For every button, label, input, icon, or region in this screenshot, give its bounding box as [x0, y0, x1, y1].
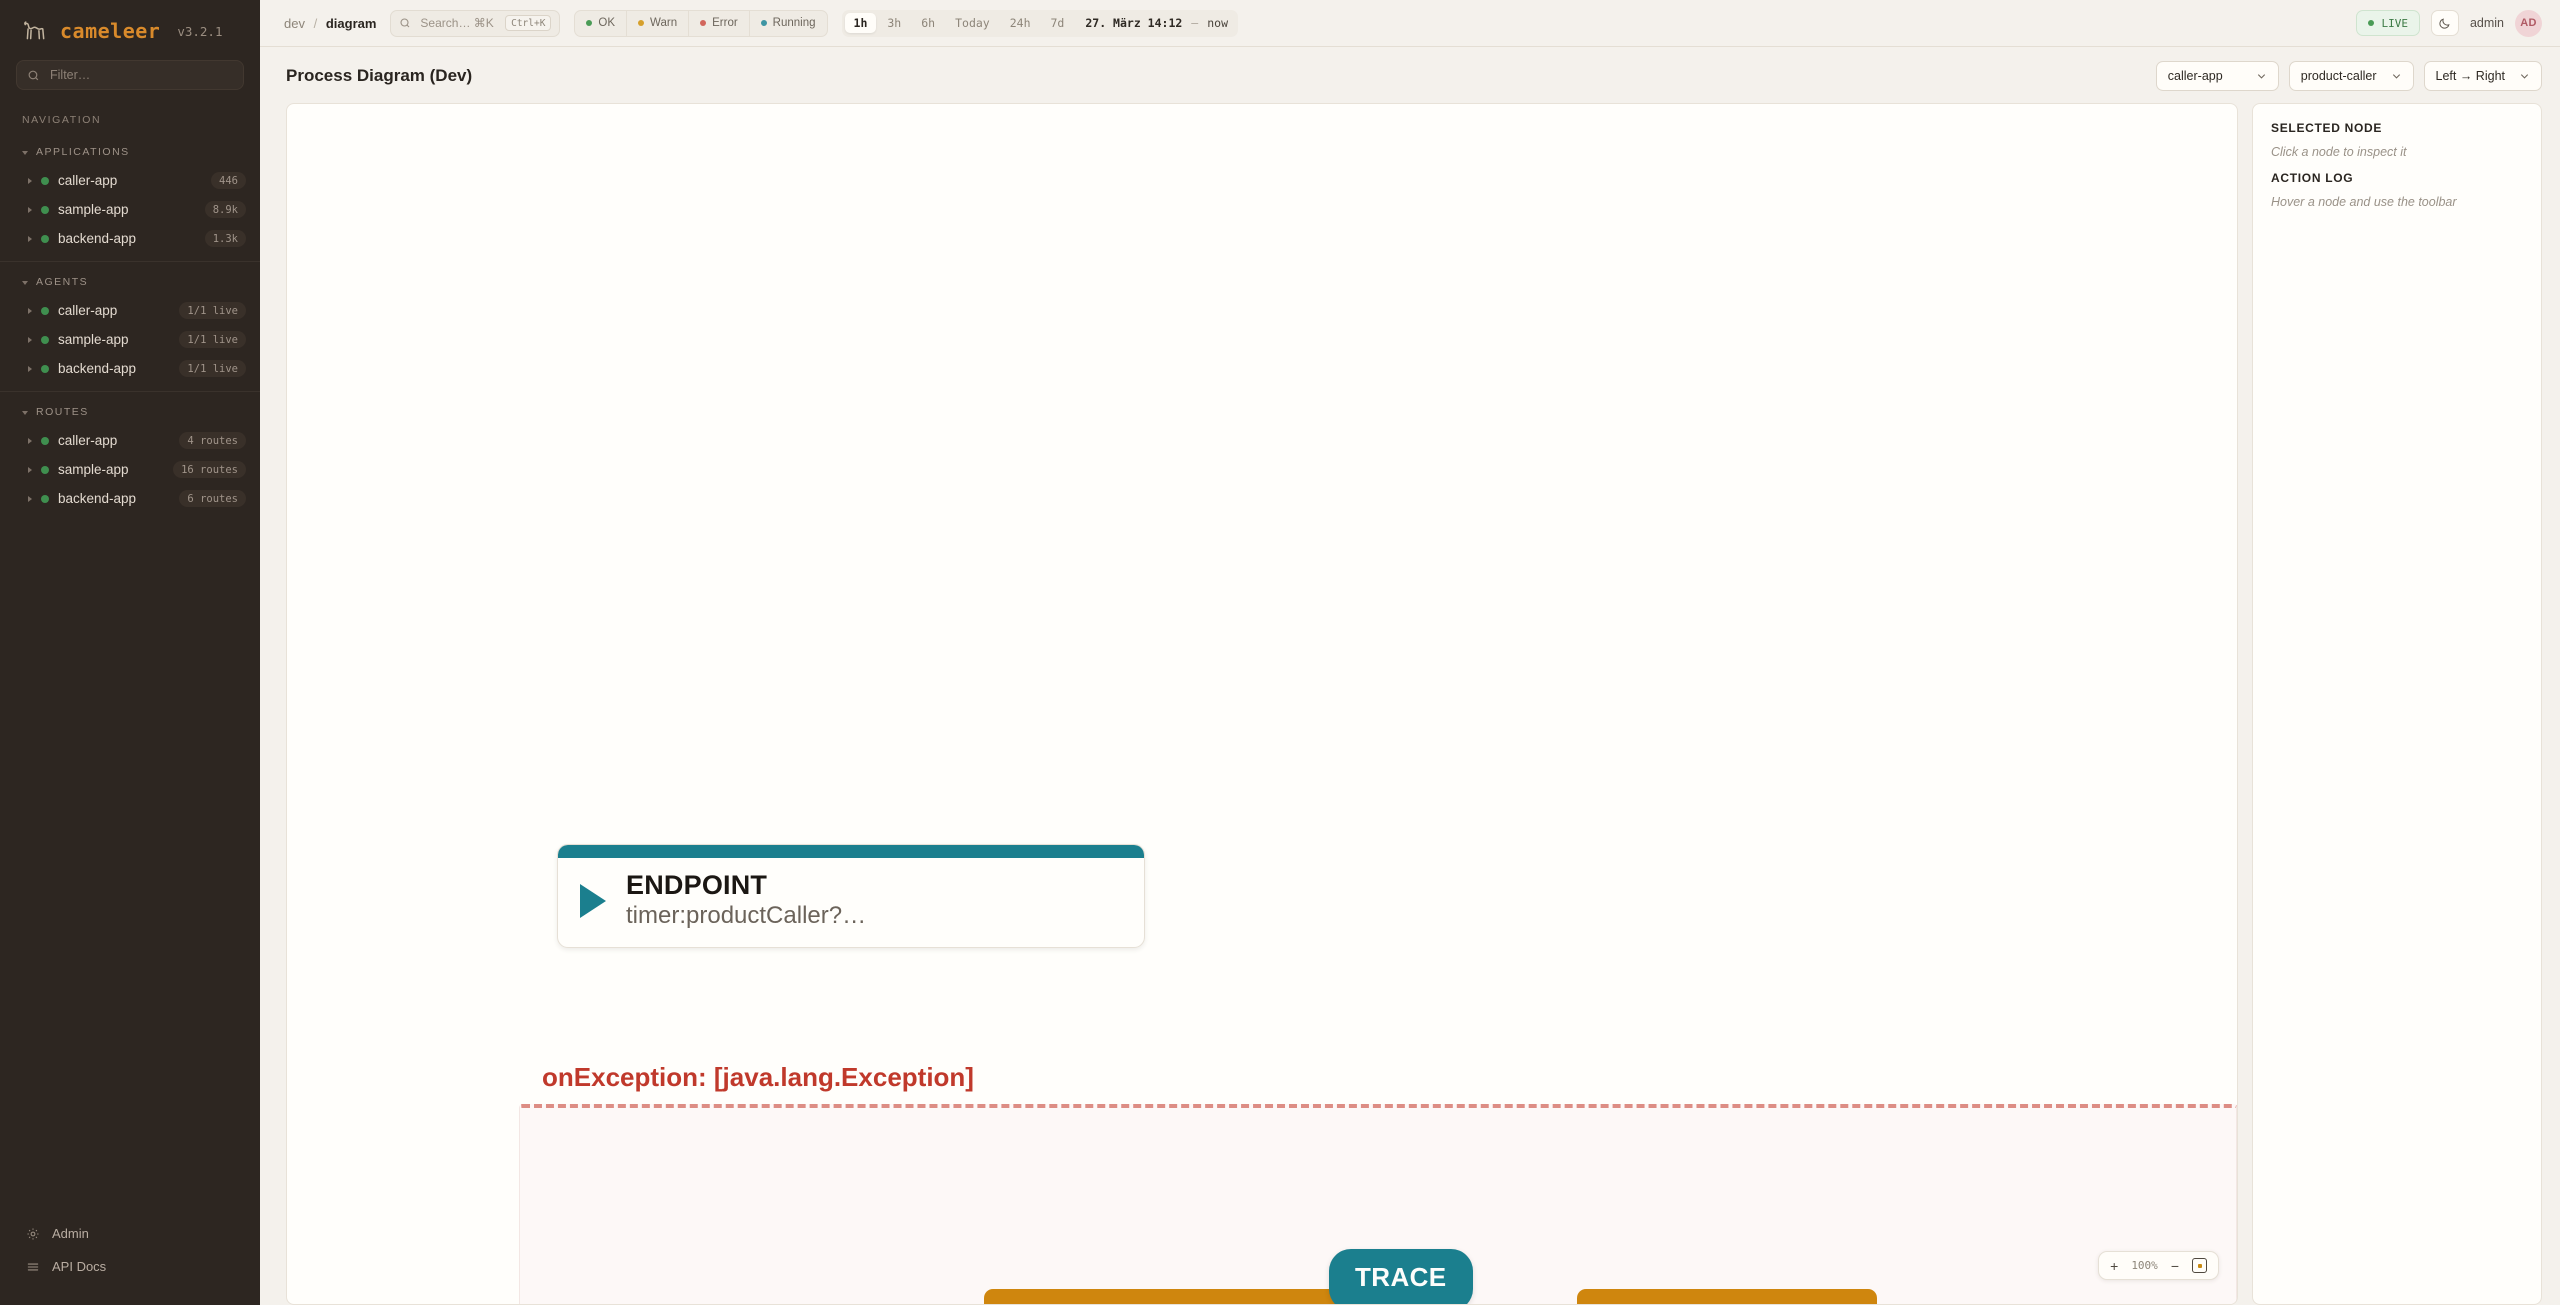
status-dot-error: [700, 20, 706, 26]
search-placeholder: Search… ⌘K: [420, 16, 496, 30]
navigation-label: NAVIGATION: [0, 104, 260, 132]
item-badge: 1/1 live: [179, 302, 246, 319]
section-title: APPLICATIONS: [36, 146, 130, 158]
inspector-panel: SELECTED NODE Click a node to inspect it…: [2252, 103, 2542, 1305]
zoom-level: 100%: [2131, 1259, 2158, 1272]
range-3h[interactable]: 3h: [878, 13, 910, 33]
sidebar-item-applications-sample-app[interactable]: sample-app 8.9k: [0, 195, 260, 224]
chevron-down-icon: [22, 151, 28, 155]
select-route[interactable]: product-caller: [2289, 61, 2414, 91]
item-badge: 16 routes: [173, 461, 246, 478]
breadcrumb-current: diagram: [326, 16, 377, 31]
chevron-right-icon: [28, 496, 32, 502]
diagram-node-bar-left[interactable]: [984, 1289, 1384, 1305]
item-badge: 4 routes: [179, 432, 246, 449]
chevron-down-icon: [2519, 71, 2530, 82]
diagram-node-endpoint[interactable]: ENDPOINT timer:productCaller?…: [557, 844, 1145, 948]
chevron-right-icon: [28, 178, 32, 184]
chevron-right-icon: [28, 438, 32, 444]
range-to: now: [1207, 16, 1228, 30]
sidebar-item-applications-caller-app[interactable]: caller-app 446: [0, 166, 260, 195]
status-filter-label: Error: [712, 17, 738, 29]
search-icon: [399, 17, 411, 29]
section-header-agents[interactable]: AGENTS: [0, 262, 260, 296]
item-badge: 1.3k: [205, 230, 246, 247]
sidebar-footer: Admin API Docs: [0, 1217, 260, 1305]
sidebar-item-agents-backend-app[interactable]: backend-app 1/1 live: [0, 354, 260, 383]
section-title: ROUTES: [36, 406, 89, 418]
trace-badge[interactable]: TRACE: [1329, 1249, 1473, 1305]
range-dash: —: [1191, 16, 1198, 30]
range-1h[interactable]: 1h: [845, 13, 877, 33]
item-label: caller-app: [58, 433, 117, 448]
chevron-down-icon: [22, 411, 28, 415]
status-dot-ok: [586, 20, 592, 26]
status-dot: [41, 307, 49, 315]
item-badge: 1/1 live: [179, 331, 246, 348]
select-value: Left → Right: [2436, 69, 2505, 83]
time-range-selector: 1h 3h 6h Today 24h 7d 27. März 14:12 — n…: [842, 10, 1239, 37]
status-filter-label: Running: [773, 17, 816, 29]
sidebar-item-agents-caller-app[interactable]: caller-app 1/1 live: [0, 296, 260, 325]
sidebar-section-agents: AGENTS caller-app 1/1 live sample-app 1/…: [0, 261, 260, 391]
chevron-right-icon: [28, 337, 32, 343]
global-search[interactable]: Search… ⌘K Ctrl+K: [390, 10, 560, 37]
brand[interactable]: cameleer v3.2.1: [0, 0, 260, 54]
status-filter-error[interactable]: Error: [688, 11, 749, 36]
item-label: sample-app: [58, 332, 129, 347]
status-dot-running: [761, 20, 767, 26]
camel-icon: [22, 18, 48, 44]
status-dot: [41, 336, 49, 344]
exception-label: onException: [java.lang.Exception]: [542, 1062, 974, 1093]
action-log-hint: Hover a node and use the toolbar: [2271, 195, 2523, 209]
status-filter-label: Warn: [650, 17, 677, 29]
zoom-out-button[interactable]: −: [2171, 1259, 2179, 1273]
range-6h[interactable]: 6h: [912, 13, 944, 33]
sidebar-filter: [0, 54, 260, 104]
sidebar-item-applications-backend-app[interactable]: backend-app 1.3k: [0, 224, 260, 253]
filter-input[interactable]: [50, 68, 233, 82]
node-body: ENDPOINT timer:productCaller?…: [558, 858, 1144, 947]
select-value: caller-app: [2168, 69, 2242, 83]
sidebar-section-routes: ROUTES caller-app 4 routes sample-app 16…: [0, 391, 260, 521]
chevron-right-icon: [28, 366, 32, 372]
range-today[interactable]: Today: [946, 13, 999, 33]
diagram-canvas[interactable]: ENDPOINT timer:productCaller?… onExcepti…: [286, 103, 2238, 1305]
zoom-in-button[interactable]: +: [2110, 1259, 2118, 1273]
sidebar: cameleer v3.2.1 NAVIGATION APPLICATIONS …: [0, 0, 260, 1305]
status-dot-warn: [638, 20, 644, 26]
status-filter-label: OK: [598, 17, 615, 29]
search-icon: [27, 69, 40, 82]
live-dot: [2368, 20, 2374, 26]
chevron-right-icon: [28, 467, 32, 473]
section-header-routes[interactable]: ROUTES: [0, 392, 260, 426]
live-label: LIVE: [2381, 17, 2408, 30]
section-header-applications[interactable]: APPLICATIONS: [0, 132, 260, 166]
chevron-right-icon: [28, 308, 32, 314]
page-title: Process Diagram (Dev): [286, 66, 472, 86]
chevron-down-icon: [2256, 71, 2267, 82]
filter-box[interactable]: [16, 60, 244, 90]
diagram-node-bar-right[interactable]: [1577, 1289, 1877, 1305]
item-badge: 1/1 live: [179, 360, 246, 377]
main-area: dev / diagram Search… ⌘K Ctrl+K OK Warn: [260, 0, 2560, 1305]
item-badge: 8.9k: [205, 201, 246, 218]
diagram-selectors: caller-app product-caller Left → Right: [2156, 61, 2542, 91]
zoom-controls: + 100% −: [2098, 1251, 2219, 1280]
status-dot: [41, 466, 49, 474]
live-status-badge[interactable]: LIVE: [2356, 10, 2420, 36]
status-dot: [41, 365, 49, 373]
status-dot: [41, 177, 49, 185]
status-dot: [41, 235, 49, 243]
fit-to-screen-icon[interactable]: [2192, 1258, 2207, 1273]
play-icon: [580, 884, 606, 918]
list-icon: [26, 1260, 40, 1274]
item-badge: 446: [211, 172, 246, 189]
status-filter-warn[interactable]: Warn: [626, 11, 688, 36]
select-application[interactable]: caller-app: [2156, 61, 2279, 91]
sidebar-item-agents-sample-app[interactable]: sample-app 1/1 live: [0, 325, 260, 354]
sidebar-section-applications: APPLICATIONS caller-app 446 sample-app 8…: [0, 132, 260, 261]
selected-node-heading: SELECTED NODE: [2271, 121, 2523, 135]
moon-icon: [2438, 17, 2451, 30]
user-name: admin: [2470, 16, 2504, 30]
gear-icon: [26, 1227, 40, 1241]
brand-version: v3.2.1: [177, 24, 222, 39]
theme-toggle-button[interactable]: [2431, 10, 2459, 36]
section-title: AGENTS: [36, 276, 88, 288]
node-title: ENDPOINT: [626, 870, 866, 900]
breadcrumb: dev / diagram: [284, 16, 376, 31]
item-label: sample-app: [58, 462, 129, 477]
select-direction[interactable]: Left → Right: [2424, 61, 2542, 91]
status-filter-ok[interactable]: OK: [575, 11, 626, 36]
sidebar-item-admin[interactable]: Admin: [0, 1217, 260, 1250]
select-value: product-caller: [2301, 69, 2377, 83]
avatar[interactable]: AD: [2515, 10, 2542, 37]
node-accent-bar: [558, 845, 1144, 858]
range-24h[interactable]: 24h: [1001, 13, 1040, 33]
range-7d[interactable]: 7d: [1042, 13, 1074, 33]
item-label: backend-app: [58, 231, 136, 246]
status-dot: [41, 437, 49, 445]
breadcrumb-separator: /: [314, 16, 318, 31]
item-label: caller-app: [58, 303, 117, 318]
footer-label: API Docs: [52, 1259, 106, 1274]
status-dot: [41, 495, 49, 503]
item-label: backend-app: [58, 491, 136, 506]
chevron-right-icon: [28, 236, 32, 242]
top-toolbar: dev / diagram Search… ⌘K Ctrl+K OK Warn: [260, 0, 2560, 47]
sidebar-item-api-docs[interactable]: API Docs: [0, 1250, 260, 1283]
action-log-heading: ACTION LOG: [2271, 171, 2523, 185]
node-subtitle: timer:productCaller?…: [626, 902, 866, 931]
chevron-down-icon: [2391, 71, 2402, 82]
footer-label: Admin: [52, 1226, 89, 1241]
content-row: ENDPOINT timer:productCaller?… onExcepti…: [260, 103, 2560, 1305]
toolbar-right: LIVE admin AD: [2356, 10, 2542, 37]
status-filter-running[interactable]: Running: [749, 11, 827, 36]
item-label: backend-app: [58, 361, 136, 376]
brand-name: cameleer: [60, 19, 160, 43]
item-label: caller-app: [58, 173, 117, 188]
search-shortcut-badge: Ctrl+K: [505, 15, 551, 31]
sidebar-item-routes-backend-app[interactable]: backend-app 6 routes: [0, 484, 260, 513]
breadcrumb-parent[interactable]: dev: [284, 16, 305, 31]
fit-center-dot: [2198, 1264, 2202, 1268]
sidebar-item-routes-sample-app[interactable]: sample-app 16 routes: [0, 455, 260, 484]
chevron-right-icon: [28, 207, 32, 213]
page-header: Process Diagram (Dev) caller-app product…: [260, 47, 2560, 103]
chevron-down-icon: [22, 281, 28, 285]
range-from: 27. März 14:12: [1085, 16, 1182, 30]
app-root: cameleer v3.2.1 NAVIGATION APPLICATIONS …: [0, 0, 2560, 1305]
item-badge: 6 routes: [179, 490, 246, 507]
status-filter-group: OK Warn Error Running: [574, 10, 827, 37]
selected-node-hint: Click a node to inspect it: [2271, 145, 2523, 159]
status-dot: [41, 206, 49, 214]
sidebar-item-routes-caller-app[interactable]: caller-app 4 routes: [0, 426, 260, 455]
item-label: sample-app: [58, 202, 129, 217]
